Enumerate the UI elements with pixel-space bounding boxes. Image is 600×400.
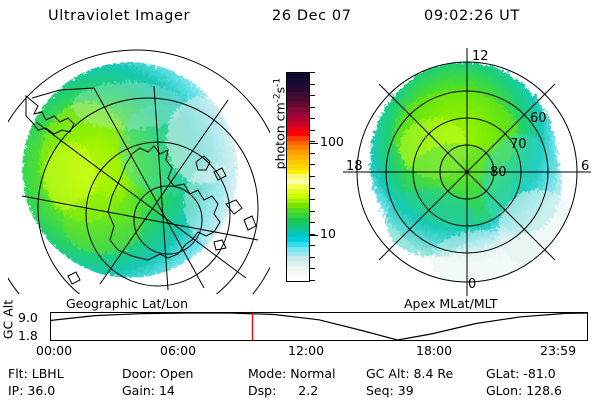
apex-grid [343, 48, 591, 296]
status-seq: Seq: 39 [366, 383, 414, 398]
status-door-label: Door: [122, 366, 156, 381]
mlt-label-18: 18 [346, 159, 363, 174]
mlt-label-6: 6 [581, 159, 589, 174]
geographic-plot-svg [8, 44, 270, 294]
colorbar-tick [309, 222, 315, 223]
status-seq-label: Seq: [366, 383, 394, 398]
colorbar-tick [309, 188, 315, 189]
status-dsp-label: Dsp: [248, 383, 276, 398]
colorbar-tick [309, 130, 315, 131]
status-gc-alt-label: GC Alt: [366, 366, 410, 381]
orbit-xtick-label: 12:00 [288, 343, 324, 358]
status-glon-label: GLon: [486, 383, 522, 398]
status-seq-value: 39 [398, 383, 414, 398]
orbit-xtick-label: 00:00 [36, 343, 72, 358]
status-gain-value: 14 [159, 383, 175, 398]
colorbar-tick-label: 10 [320, 228, 336, 241]
header-date: 26 Dec 07 [272, 8, 352, 24]
orbit-altitude-strip: Geographic Lat/Lon Apex MLat/MLT GC Alt … [0, 296, 600, 358]
status-mode-value: Normal [290, 366, 335, 381]
colorbar-tick [309, 280, 315, 281]
colorbar-tick [309, 245, 315, 246]
status-gc-alt: GC Alt: 8.4 Re [366, 366, 453, 381]
mlat-label-70: 70 [510, 137, 527, 152]
colorbar-unit-exp1: -2 [272, 93, 282, 102]
colorbar-segment [287, 276, 309, 281]
colorbar-tick [309, 199, 315, 200]
status-ip-value: 36.0 [27, 383, 55, 398]
header-time-ut: 09:02:26 UT [424, 8, 520, 24]
colorbar-ticks [309, 72, 317, 282]
colorbar-tick [309, 257, 315, 258]
status-ip-label: IP: [8, 383, 23, 398]
geographic-plot-caption: Geographic Lat/Lon [66, 296, 188, 311]
status-gain-label: Gain: [122, 383, 155, 398]
mlat-label-60: 60 [530, 111, 547, 126]
colorbar-tick [309, 84, 315, 85]
apex-plot-caption: Apex MLat/MLT [404, 296, 498, 311]
colorbar-tick-major [309, 235, 318, 236]
colorbar-tick [309, 153, 315, 154]
orbit-xtick-label: 06:00 [160, 343, 196, 358]
colorbar-gradient [286, 72, 310, 282]
colorbar-unit-exp2: -1 [272, 78, 282, 87]
orbit-track-plot [50, 312, 588, 341]
orbit-xtick-label: 23:59 [540, 343, 576, 358]
status-door: Door: Open [122, 366, 193, 381]
status-glon: GLon: 128.6 [486, 383, 562, 398]
geographic-polar-plot [8, 44, 270, 294]
status-glon-value: 128.6 [526, 383, 562, 398]
colorbar-tick [309, 72, 315, 73]
status-door-value: Open [160, 366, 193, 381]
colorbar: photon cm-2s-1 10010 [262, 60, 342, 295]
apex-plot-svg: 12 18 6 0 60 70 80 [338, 44, 596, 296]
status-mode-label: Mode: [248, 366, 286, 381]
status-filter-value: LBHL [32, 366, 64, 381]
status-footer: Flt: LBHL IP: 36.0 Door: Open Gain: 14 M… [0, 364, 600, 400]
ultraviolet-imager-window: Ultraviolet Imager 26 Dec 07 09:02:26 UT [0, 0, 600, 400]
colorbar-tick-major [309, 143, 318, 144]
mlt-label-0: 0 [468, 277, 476, 292]
orbit-ytick-high: 9.0 [18, 310, 38, 325]
status-dsp: Dsp: 2.2 [248, 383, 318, 398]
header-bar: Ultraviolet Imager 26 Dec 07 09:02:26 UT [0, 4, 600, 28]
status-filter: Flt: LBHL [8, 366, 64, 381]
orbit-ytick-low: 1.8 [18, 328, 38, 343]
status-mode: Mode: Normal [248, 366, 336, 381]
status-filter-label: Flt: [8, 366, 28, 381]
status-dsp-value: 2.2 [298, 383, 318, 398]
colorbar-tick [309, 268, 315, 269]
colorbar-tick [309, 118, 315, 119]
orbit-plot-frame [51, 313, 588, 341]
page-title: Ultraviolet Imager [48, 8, 190, 24]
status-glat-label: GLat: [486, 366, 519, 381]
apex-polar-plot: 12 18 6 0 60 70 80 [338, 44, 596, 296]
colorbar-tick [309, 95, 315, 96]
colorbar-tick [309, 107, 315, 108]
mlt-label-12: 12 [472, 49, 489, 64]
status-glat-value: -81.0 [523, 366, 555, 381]
colorbar-tick [309, 176, 315, 177]
status-ip: IP: 36.0 [8, 383, 55, 398]
status-glat: GLat: -81.0 [486, 366, 556, 381]
orbit-y-axis-label: GC Alt [1, 296, 16, 344]
geographic-aurora-image [22, 62, 244, 278]
status-gain: Gain: 14 [122, 383, 175, 398]
mlat-label-80: 80 [490, 165, 507, 180]
orbit-xtick-label: 18:00 [416, 343, 452, 358]
colorbar-tick [309, 164, 315, 165]
colorbar-tick [309, 211, 315, 212]
status-gc-alt-value: 8.4 Re [414, 366, 454, 381]
